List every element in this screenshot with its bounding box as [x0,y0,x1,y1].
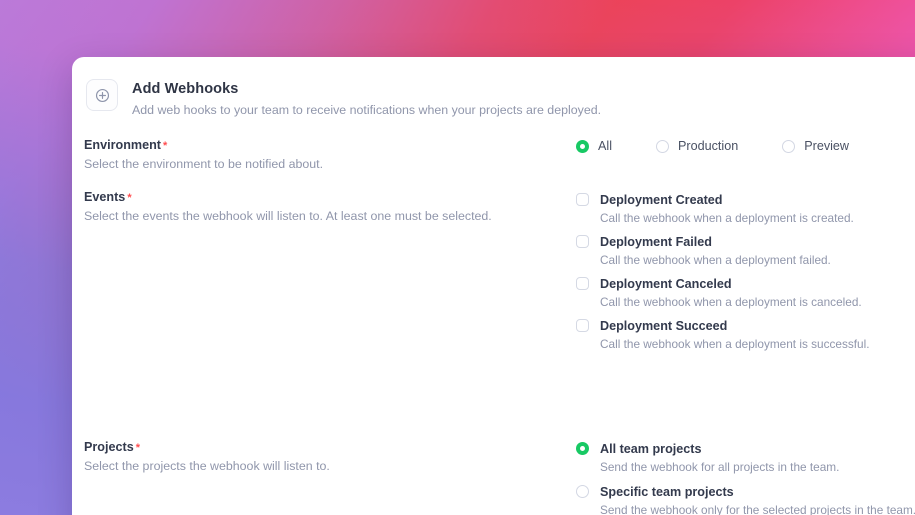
radio-option-specific-team-projects[interactable]: Specific team projects Send the webhook … [576,483,915,515]
projects-label: Projects* [84,439,556,455]
checkbox-desc: Call the webhook when a deployment is su… [600,337,870,352]
checkbox-title: Deployment Succeed [600,319,727,333]
radio-option-all[interactable]: All [576,138,612,154]
radio-desc: Send the webhook for all projects in the… [600,460,839,475]
radio-option-all-team-projects[interactable]: All team projects Send the webhook for a… [576,440,915,475]
checkbox-deployment-succeed[interactable]: Deployment Succeed Call the webhook when… [576,317,915,352]
radio-all-indicator[interactable] [576,140,589,153]
radio-all-team-projects-indicator[interactable] [576,442,589,455]
field-row-projects: Projects* Select the projects the webhoo… [72,439,915,515]
field-row-environment: Environment* Select the environment to b… [72,137,915,173]
projects-radio-group[interactable]: All team projects Send the webhook for a… [576,440,915,515]
events-control: Deployment Created Call the webhook when… [576,189,915,359]
projects-label-text: Projects [84,440,134,454]
checkbox-desc: Call the webhook when a deployment is cr… [600,211,854,226]
projects-control: All team projects Send the webhook for a… [576,439,915,515]
events-label-block: Events* Select the events the webhook wi… [84,189,576,225]
radio-production-label: Production [678,138,738,154]
add-webhooks-card: Add Webhooks Add web hooks to your team … [72,57,915,515]
circle-plus-icon [86,79,118,111]
checkbox-title: Deployment Failed [600,235,712,249]
checkbox-indicator[interactable] [576,235,589,248]
checkbox-indicator[interactable] [576,193,589,206]
checkbox-title: Deployment Canceled [600,277,732,291]
environment-radio-group[interactable]: All Production Preview [576,138,915,154]
page-subtitle: Add web hooks to your team to receive no… [132,101,601,119]
radio-production-indicator[interactable] [656,140,669,153]
radio-all-label: All [598,138,612,154]
checkbox-desc: Call the webhook when a deployment is ca… [600,295,862,310]
events-help: Select the events the webhook will liste… [84,208,556,225]
required-marker: * [163,140,167,152]
radio-option-preview[interactable]: Preview [782,138,849,154]
environment-label-text: Environment [84,138,161,152]
radio-option-production[interactable]: Production [656,138,738,154]
radio-title: All team projects [600,442,701,456]
environment-control: All Production Preview [576,137,915,154]
radio-specific-team-projects-indicator[interactable] [576,485,589,498]
environment-label-block: Environment* Select the environment to b… [84,137,576,173]
required-marker: * [127,192,131,204]
events-label-text: Events [84,190,125,204]
environment-label: Environment* [84,137,556,153]
environment-help: Select the environment to be notified ab… [84,156,556,173]
checkbox-deployment-created[interactable]: Deployment Created Call the webhook when… [576,191,915,226]
page-title: Add Webhooks [132,80,601,98]
required-marker: * [136,442,140,454]
events-label: Events* [84,189,556,205]
projects-label-block: Projects* Select the projects the webhoo… [84,439,576,475]
radio-preview-indicator[interactable] [782,140,795,153]
events-checkbox-group[interactable]: Deployment Created Call the webhook when… [576,191,915,352]
checkbox-deployment-failed[interactable]: Deployment Failed Call the webhook when … [576,233,915,268]
projects-help: Select the projects the webhook will lis… [84,458,556,475]
radio-preview-label: Preview [804,138,849,154]
checkbox-title: Deployment Created [600,193,722,207]
radio-title: Specific team projects [600,485,734,499]
checkbox-desc: Call the webhook when a deployment faile… [600,253,831,268]
card-header: Add Webhooks Add web hooks to your team … [72,57,915,119]
checkbox-indicator[interactable] [576,319,589,332]
checkbox-deployment-canceled[interactable]: Deployment Canceled Call the webhook whe… [576,275,915,310]
radio-desc: Send the webhook only for the selected p… [600,503,915,515]
field-row-events: Events* Select the events the webhook wi… [72,189,915,359]
form-rows: Environment* Select the environment to b… [72,137,915,515]
checkbox-indicator[interactable] [576,277,589,290]
